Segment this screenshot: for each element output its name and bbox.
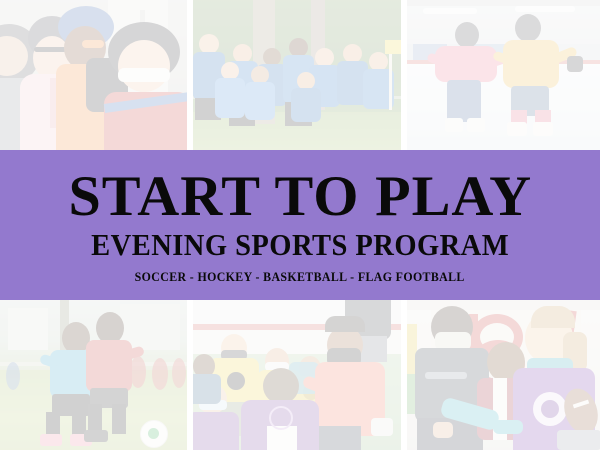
poster-container: START TO PLAY EVENING SPORTS PROGRAM SOC… bbox=[0, 0, 600, 450]
poster-subtitle: EVENING SPORTS PROGRAM bbox=[91, 229, 509, 262]
photo-row-bottom bbox=[0, 300, 600, 450]
photo-kids-hockey-helmets bbox=[0, 0, 187, 150]
poster-banner: START TO PLAY EVENING SPORTS PROGRAM SOC… bbox=[0, 150, 600, 300]
photo-kids-ice-skating bbox=[407, 0, 600, 150]
photo-row-top bbox=[0, 0, 600, 150]
photo-youth-soccer-team bbox=[193, 0, 401, 150]
sports-list: SOCCER - HOCKEY - BASKETBALL - FLAG FOOT… bbox=[135, 270, 465, 285]
photo-coach-with-players bbox=[193, 300, 401, 450]
photo-girls-soccer-match bbox=[0, 300, 187, 450]
page-title: START TO PLAY bbox=[68, 169, 532, 225]
photo-flag-football-players bbox=[407, 300, 600, 450]
